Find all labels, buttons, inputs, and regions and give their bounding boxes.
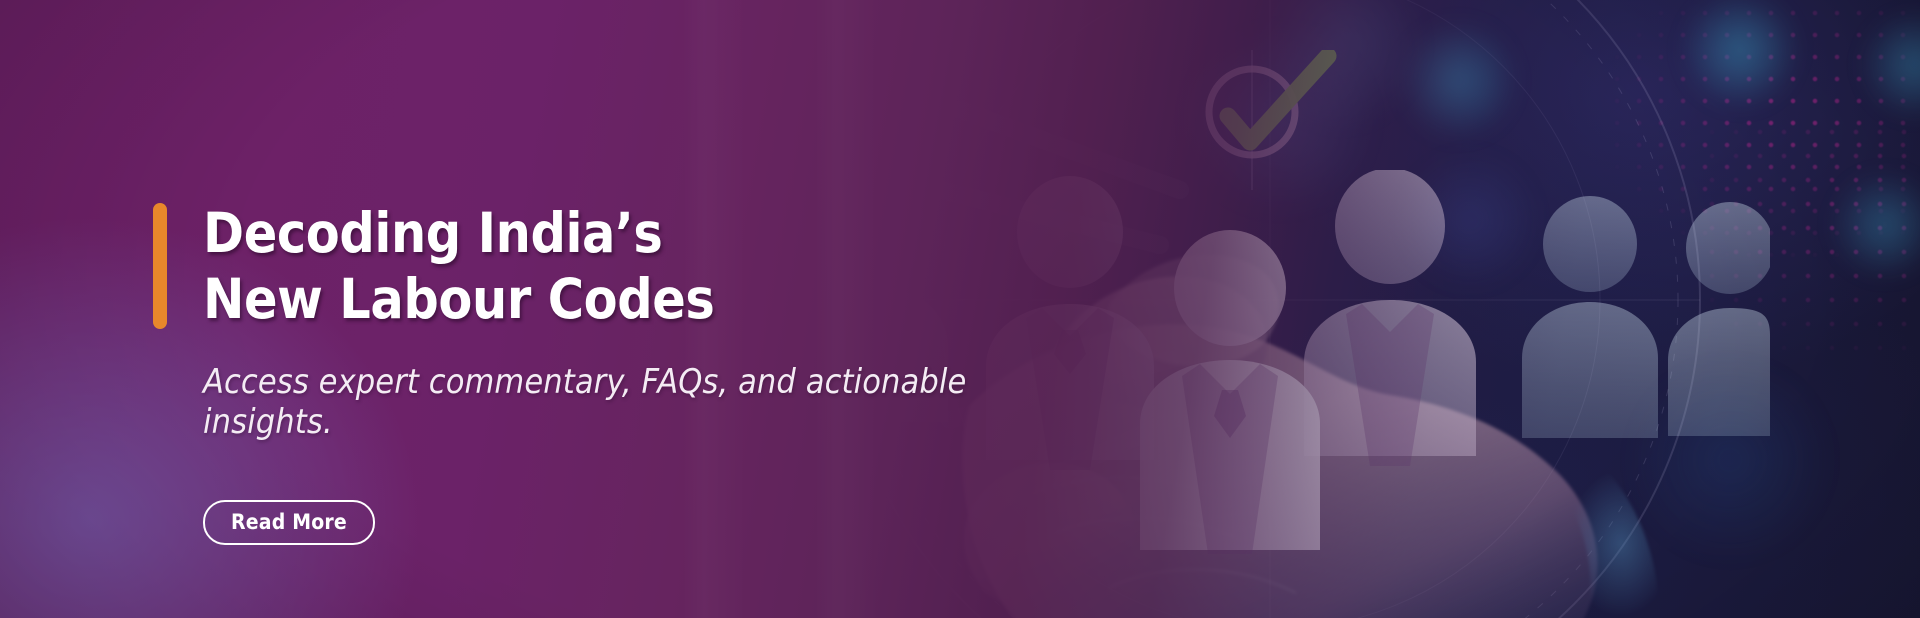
banner-content: Decoding India’s New Labour Codes Access… bbox=[153, 200, 1053, 545]
hero-banner: Decoding India’s New Labour Codes Access… bbox=[0, 0, 1920, 618]
banner-subtitle: Access expert commentary, FAQs, and acti… bbox=[203, 362, 1053, 442]
accent-bar bbox=[153, 203, 167, 329]
page-title: Decoding India’s New Labour Codes bbox=[203, 200, 1053, 332]
read-more-button[interactable]: Read More bbox=[203, 500, 375, 545]
